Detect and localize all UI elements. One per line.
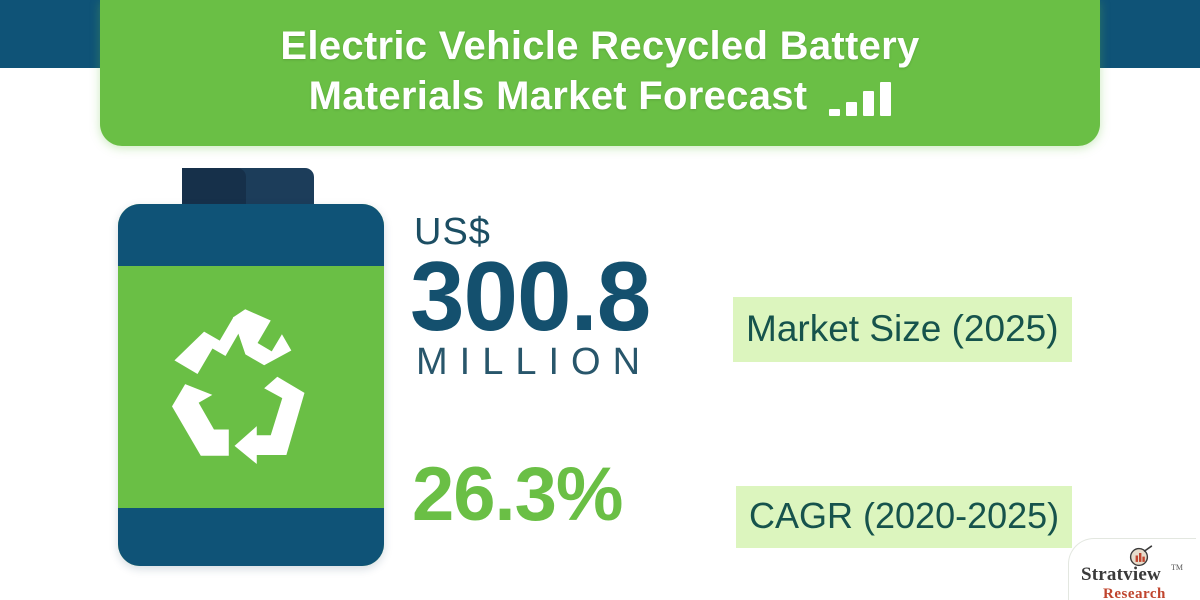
cagr-label: CAGR (2020-2025) [736, 486, 1072, 548]
cagr-value: 26.3% [412, 457, 623, 533]
logo-subtitle: Research [1103, 587, 1166, 600]
statistics-block: US$ 300.8 MILLION Market Size (2025) 26.… [410, 205, 1110, 545]
page-title-line-2: Materials Market Forecast [309, 71, 808, 121]
battery-recycle-icon [118, 168, 384, 566]
page-title-line-2-row: Materials Market Forecast [309, 71, 892, 121]
market-size-unit: MILLION [416, 343, 652, 381]
market-size-label: Market Size (2025) [733, 297, 1072, 362]
page-title-line-1: Electric Vehicle Recycled Battery [280, 21, 919, 71]
logo-wordmark: Stratview [1081, 565, 1161, 584]
bar-chart-icon [829, 82, 891, 121]
battery-bottom-band [118, 508, 384, 566]
recycle-symbol-icon [167, 306, 335, 464]
battery-body [118, 204, 384, 566]
stratview-logo[interactable]: Stratview TM Research [1068, 538, 1196, 600]
battery-top-band [118, 204, 384, 266]
market-size-value: 300.8 [410, 247, 650, 345]
logo-trademark: TM [1171, 563, 1183, 572]
infographic-canvas: Electric Vehicle Recycled Battery Materi… [0, 0, 1200, 600]
title-card: Electric Vehicle Recycled Battery Materi… [100, 0, 1100, 146]
